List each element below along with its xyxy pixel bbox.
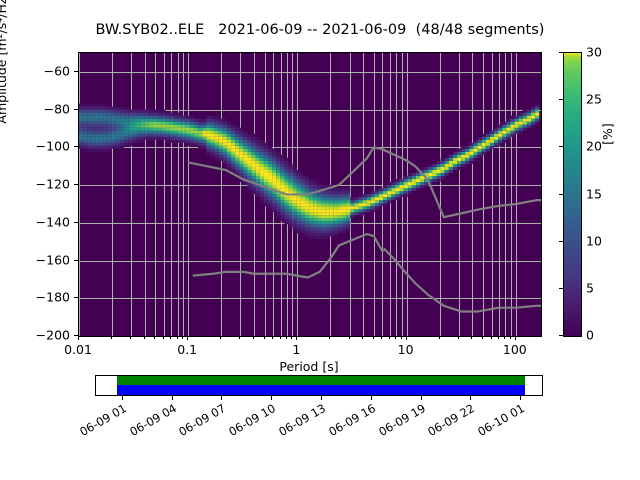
timeline-tick-label: 06-09 22 — [417, 401, 478, 444]
x-minor-tick-mark — [439, 336, 440, 339]
x-minor-tick-mark — [182, 336, 183, 339]
y-axis-label: Amplitude [m²/s⁴/Hz] [dB] — [0, 0, 9, 193]
x-minor-tick-mark — [482, 336, 483, 339]
colorbar-tick-mark — [559, 52, 563, 53]
x-minor-tick-mark — [220, 336, 221, 339]
y-tick-mark — [74, 297, 78, 298]
x-tick-label: 10 — [398, 342, 414, 357]
page-title: BW.SYB02..ELE 2021-06-09 -- 2021-06-09 (… — [0, 22, 640, 38]
colorbar-tick-mark — [559, 146, 563, 147]
timeline-tick-label: 06-09 10 — [218, 401, 279, 444]
timeline-tick-label: 06-09 04 — [118, 401, 179, 444]
x-axis-label: Period [s] — [78, 359, 540, 374]
x-minor-tick-mark — [395, 336, 396, 339]
y-tick-mark — [74, 260, 78, 261]
x-minor-tick-mark — [471, 336, 472, 339]
noise-model-nhnm — [188, 147, 541, 217]
timeline-tick-label: 06-09 13 — [267, 401, 328, 444]
colorbar[interactable] — [563, 52, 582, 337]
timeline-tick-mark — [122, 396, 123, 400]
timeline-tick-mark — [371, 396, 372, 400]
x-minor-tick-mark — [458, 336, 459, 339]
x-tick-mark — [296, 336, 297, 340]
x-minor-tick-mark — [239, 336, 240, 339]
x-minor-tick-mark — [272, 336, 273, 339]
timeline-tick-mark — [172, 396, 173, 400]
timeline-tick-mark — [221, 396, 222, 400]
timeline-tick-label: 06-09 16 — [317, 401, 378, 444]
y-tick-mark — [74, 71, 78, 72]
colorbar-tick-mark — [559, 194, 563, 195]
y-tick-label: −60 — [0, 63, 70, 78]
colorbar-tick-label: 0 — [586, 328, 594, 343]
y-tick-label: −180 — [0, 290, 70, 305]
timeline-tick-label: 06-10 01 — [466, 401, 527, 444]
coverage-band-green — [117, 376, 525, 385]
y-tick-label: −80 — [0, 101, 70, 116]
x-tick-mark — [515, 336, 516, 340]
colorbar-tick-label: 30 — [586, 45, 602, 60]
x-minor-tick-mark — [401, 336, 402, 339]
x-minor-tick-mark — [253, 336, 254, 339]
x-tick-mark — [406, 336, 407, 340]
x-minor-tick-mark — [362, 336, 363, 339]
timeline-tick-mark — [421, 396, 422, 400]
colorbar-tick-mark — [559, 241, 563, 242]
y-tick-label: −160 — [0, 252, 70, 267]
y-tick-label: −100 — [0, 139, 70, 154]
colorbar-tick-label: 5 — [586, 280, 594, 295]
x-minor-tick-mark — [177, 336, 178, 339]
x-minor-tick-mark — [491, 336, 492, 339]
coverage-band — [117, 376, 525, 395]
x-minor-tick-mark — [280, 336, 281, 339]
coverage-band-blue — [117, 385, 525, 395]
colorbar-label: [%] — [600, 74, 615, 194]
y-tick-label: −200 — [0, 328, 70, 343]
noise-model-nlnm — [193, 234, 541, 311]
x-tick-label: 0.1 — [177, 342, 197, 357]
x-minor-tick-mark — [498, 336, 499, 339]
y-tick-mark — [74, 146, 78, 147]
x-minor-tick-mark — [381, 336, 382, 339]
x-minor-tick-mark — [291, 336, 292, 339]
x-tick-label: 100 — [503, 342, 527, 357]
timeline-tick-label: 06-09 07 — [168, 401, 229, 444]
colorbar-tick-mark — [559, 288, 563, 289]
ppsd-figure: BW.SYB02..ELE 2021-06-09 -- 2021-06-09 (… — [0, 0, 640, 480]
x-minor-tick-mark — [504, 336, 505, 339]
x-tick-mark — [187, 336, 188, 340]
x-minor-tick-mark — [170, 336, 171, 339]
x-minor-tick-mark — [144, 336, 145, 339]
ppsd-plot-area[interactable] — [78, 52, 542, 337]
x-minor-tick-mark — [130, 336, 131, 339]
x-tick-mark — [78, 336, 79, 340]
timeline-tick-label: 06-09 19 — [367, 401, 428, 444]
x-tick-label: 0.01 — [64, 342, 92, 357]
data-coverage-timeline[interactable] — [95, 375, 543, 396]
x-minor-tick-mark — [111, 336, 112, 339]
x-minor-tick-mark — [373, 336, 374, 339]
y-tick-label: −140 — [0, 214, 70, 229]
timeline-tick-mark — [271, 396, 272, 400]
x-minor-tick-mark — [154, 336, 155, 339]
x-minor-tick-mark — [163, 336, 164, 339]
x-minor-tick-mark — [264, 336, 265, 339]
colorbar-tick-label: 10 — [586, 233, 602, 248]
y-tick-mark — [74, 184, 78, 185]
y-tick-mark — [74, 109, 78, 110]
x-minor-tick-mark — [349, 336, 350, 339]
colorbar-tick-mark — [559, 335, 563, 336]
timeline-tick-label: 06-09 01 — [68, 401, 129, 444]
x-minor-tick-mark — [329, 336, 330, 339]
x-minor-tick-mark — [389, 336, 390, 339]
timeline-tick-mark — [321, 396, 322, 400]
noise-model-curves — [79, 53, 541, 336]
y-tick-mark — [74, 222, 78, 223]
x-minor-tick-mark — [286, 336, 287, 339]
x-tick-label: 1 — [292, 342, 300, 357]
x-minor-tick-mark — [510, 336, 511, 339]
timeline-tick-mark — [520, 396, 521, 400]
timeline-tick-mark — [470, 396, 471, 400]
colorbar-tick-mark — [559, 99, 563, 100]
y-tick-label: −120 — [0, 177, 70, 192]
